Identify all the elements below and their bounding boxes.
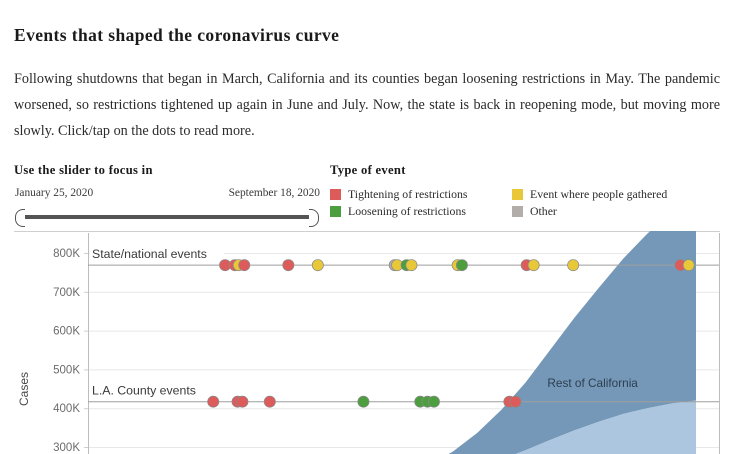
y-axis-tick-label: 300K bbox=[53, 442, 80, 454]
event-dot-loosening[interactable] bbox=[456, 260, 467, 271]
date-range-slider-block: Use the slider to focus in January 25, 2… bbox=[14, 163, 320, 226]
slider-handle-right[interactable] bbox=[309, 209, 319, 227]
legend-swatch-icon bbox=[330, 206, 341, 217]
legend: Type of event Tightening of restrictions… bbox=[330, 163, 720, 220]
y-axis-tick-label: 800K bbox=[53, 248, 80, 260]
legend-items: Tightening of restrictionsEvent where pe… bbox=[330, 186, 720, 220]
chart-event-row-labels: State/national eventsL.A. County events bbox=[90, 246, 224, 398]
y-axis-tick-label: 700K bbox=[53, 287, 80, 299]
event-dot-tightening[interactable] bbox=[510, 396, 521, 407]
event-dot-tightening[interactable] bbox=[264, 396, 275, 407]
event-dot-loosening[interactable] bbox=[358, 396, 369, 407]
legend-item-label: Other bbox=[530, 204, 557, 219]
event-dot-gathering[interactable] bbox=[406, 260, 417, 271]
legend-item[interactable]: Loosening of restrictions bbox=[330, 204, 512, 219]
chart-area-annotations: Rest of California bbox=[547, 376, 638, 390]
date-range-slider[interactable] bbox=[14, 208, 320, 226]
slider-track[interactable] bbox=[23, 215, 311, 219]
coronavirus-cases-area-chart[interactable]: 800K700K600K500K400K300K Cases Rest of C… bbox=[0, 231, 736, 454]
chart-y-axis-title: Cases bbox=[17, 372, 31, 406]
legend-item[interactable]: Tightening of restrictions bbox=[330, 187, 512, 202]
event-dot-gathering[interactable] bbox=[312, 260, 323, 271]
legend-swatch-icon bbox=[512, 206, 523, 217]
event-dot-tightening[interactable] bbox=[237, 396, 248, 407]
event-row-label: L.A. County events bbox=[92, 384, 196, 398]
legend-title: Type of event bbox=[330, 163, 720, 178]
event-dot-loosening[interactable] bbox=[428, 396, 439, 407]
legend-swatch-icon bbox=[512, 189, 523, 200]
legend-item-label: Loosening of restrictions bbox=[348, 204, 466, 219]
legend-item[interactable]: Event where people gathered bbox=[512, 187, 720, 202]
event-dot-tightening[interactable] bbox=[239, 260, 250, 271]
chart-container: 800K700K600K500K400K300K Cases Rest of C… bbox=[0, 231, 736, 454]
y-axis-tick-label: 400K bbox=[53, 403, 80, 415]
slider-date-labels: January 25, 2020 September 18, 2020 bbox=[14, 187, 320, 205]
slider-end-date-label: September 18, 2020 bbox=[229, 187, 320, 199]
event-dot-gathering[interactable] bbox=[683, 260, 694, 271]
event-dot-tightening[interactable] bbox=[208, 396, 219, 407]
page-title: Events that shaped the coronavirus curve bbox=[14, 25, 339, 46]
event-dot-gathering[interactable] bbox=[528, 260, 539, 271]
y-axis-tick-label: 500K bbox=[53, 364, 80, 376]
legend-item-label: Tightening of restrictions bbox=[348, 187, 468, 202]
legend-item-label: Event where people gathered bbox=[530, 187, 667, 202]
legend-swatch-icon bbox=[330, 189, 341, 200]
event-dot-gathering[interactable] bbox=[568, 260, 579, 271]
legend-item[interactable]: Other bbox=[512, 204, 720, 219]
slider-start-date-label: January 25, 2020 bbox=[15, 187, 93, 199]
article-standfirst: Following shutdowns that began in March,… bbox=[14, 66, 720, 144]
y-axis-title: Cases bbox=[17, 372, 31, 406]
event-dot-tightening[interactable] bbox=[283, 260, 294, 271]
event-row-label: State/national events bbox=[92, 247, 207, 261]
y-axis-tick-label: 600K bbox=[53, 326, 80, 338]
chart-y-axis-ticks: 800K700K600K500K400K300K bbox=[53, 248, 88, 454]
area-series-annotation: Rest of California bbox=[547, 376, 638, 390]
slider-title: Use the slider to focus in bbox=[14, 163, 320, 178]
slider-handle-left[interactable] bbox=[15, 209, 25, 227]
